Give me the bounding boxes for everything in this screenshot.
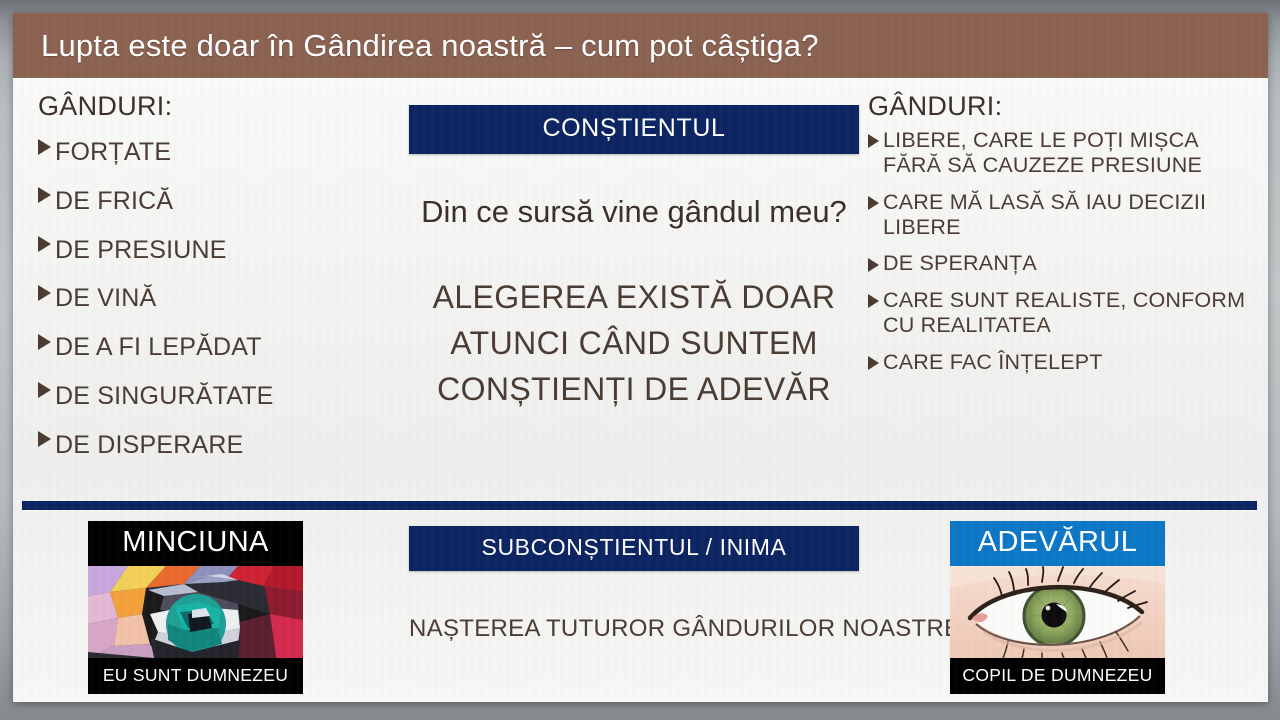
left-column-heading: GÂNDURI: — [38, 91, 388, 122]
triangle-bullet-icon — [38, 334, 51, 350]
triangle-bullet-icon — [38, 431, 51, 447]
slide-title: Lupta este doar în Gândirea noastră – cu… — [41, 28, 819, 64]
subconscious-caption: NAȘTEREA TUTUROR GÂNDURILOR NOASTRE — [409, 615, 859, 643]
center-question: Din ce sursă vine gândul meu? — [409, 192, 859, 232]
list-item: DE SINGURĂTATE — [38, 372, 388, 421]
slide-canvas: Lupta este doar în Gândirea noastră – cu… — [13, 13, 1268, 702]
list-item: DE DISPERARE — [38, 421, 388, 470]
triangle-bullet-icon — [868, 134, 879, 148]
right-thoughts-column: GÂNDURI: LIBERE, CARE LE POȚI MIȘCA FĂRĂ… — [868, 91, 1253, 386]
list-item: DE VINĂ — [38, 274, 388, 323]
bullet-label: LIBERE, CARE LE POȚI MIȘCA FĂRĂ SĂ CAUZE… — [883, 128, 1253, 179]
bullet-label: CARE SUNT REALISTE, CONFORM CU REALITATE… — [883, 288, 1253, 339]
list-item: LIBERE, CARE LE POȚI MIȘCA FĂRĂ SĂ CAUZE… — [868, 128, 1253, 179]
conscious-banner: CONȘTIENTUL — [409, 105, 859, 154]
truth-card-header: ADEVĂRUL — [950, 521, 1165, 566]
subconscious-banner: SUBCONȘTIENTUL / INIMA — [409, 526, 859, 571]
list-item: DE A FI LEPĂDAT — [38, 323, 388, 372]
truth-card: ADEVĂRUL — [950, 521, 1165, 694]
bullet-label: DE VINĂ — [55, 274, 156, 323]
triangle-bullet-icon — [38, 187, 51, 203]
list-item: CARE SUNT REALISTE, CONFORM CU REALITATE… — [868, 288, 1253, 339]
bullet-label: CARE MĂ LASĂ SĂ IAU DECIZII LIBERE — [883, 190, 1253, 241]
presentation-frame: Lupta este doar în Gândirea noastră – cu… — [0, 0, 1280, 720]
triangle-bullet-icon — [38, 382, 51, 398]
list-item: DE SPERANȚA — [868, 251, 1253, 276]
bottom-row: MINCIUNA — [13, 513, 1268, 702]
bullet-label: DE SINGURĂTATE — [55, 372, 274, 421]
right-column-heading: GÂNDURI: — [868, 91, 1253, 122]
bullet-label: CARE FAC ÎNȚELEPT — [883, 350, 1103, 375]
bullet-label: FORȚATE — [55, 128, 171, 177]
bullet-label: DE DISPERARE — [55, 421, 244, 470]
eye-icon — [950, 566, 1165, 658]
triangle-bullet-icon — [38, 236, 51, 252]
right-bullet-list: LIBERE, CARE LE POȚI MIȘCA FĂRĂ SĂ CAUZE… — [868, 128, 1253, 375]
low-poly-colorful-eye-image — [88, 566, 303, 658]
triangle-bullet-icon — [868, 356, 879, 370]
subconscious-panel: SUBCONȘTIENTUL / INIMA NAȘTEREA TUTUROR … — [409, 526, 859, 643]
bullet-label: DE PRESIUNE — [55, 226, 227, 275]
section-divider — [22, 501, 1257, 510]
list-item: FORȚATE — [38, 128, 388, 177]
left-thoughts-column: GÂNDURI: FORȚATE DE FRICĂ DE PRESIUNE DE… — [38, 91, 388, 469]
lie-card-header: MINCIUNA — [88, 521, 303, 566]
triangle-bullet-icon — [38, 285, 51, 301]
triangle-bullet-icon — [868, 258, 879, 272]
triangle-bullet-icon — [868, 294, 879, 308]
center-conscious-panel: CONȘTIENTUL Din ce sursă vine gândul meu… — [409, 105, 859, 413]
bullet-label: DE FRICĂ — [55, 177, 173, 226]
left-bullet-list: FORȚATE DE FRICĂ DE PRESIUNE DE VINĂ DE … — [38, 128, 388, 469]
triangle-bullet-icon — [38, 139, 51, 155]
bullet-label: DE SPERANȚA — [883, 251, 1037, 276]
list-item: DE PRESIUNE — [38, 226, 388, 275]
truth-card-footer: COPIL DE DUMNEZEU — [950, 658, 1165, 694]
list-item: DE FRICĂ — [38, 177, 388, 226]
lie-card: MINCIUNA — [88, 521, 303, 694]
realistic-green-eye-photo — [950, 566, 1165, 658]
bullet-label: DE A FI LEPĂDAT — [55, 323, 262, 372]
lie-card-footer: EU SUNT DUMNEZEU — [88, 658, 303, 694]
list-item: CARE MĂ LASĂ SĂ IAU DECIZII LIBERE — [868, 190, 1253, 241]
center-statement: ALEGEREA EXISTĂ DOAR ATUNCI CÂND SUNTEM … — [409, 274, 859, 413]
eye-icon — [88, 566, 303, 658]
triangle-bullet-icon — [868, 196, 879, 210]
list-item: CARE FAC ÎNȚELEPT — [868, 350, 1253, 375]
slide-title-bar: Lupta este doar în Gândirea noastră – cu… — [13, 13, 1268, 78]
